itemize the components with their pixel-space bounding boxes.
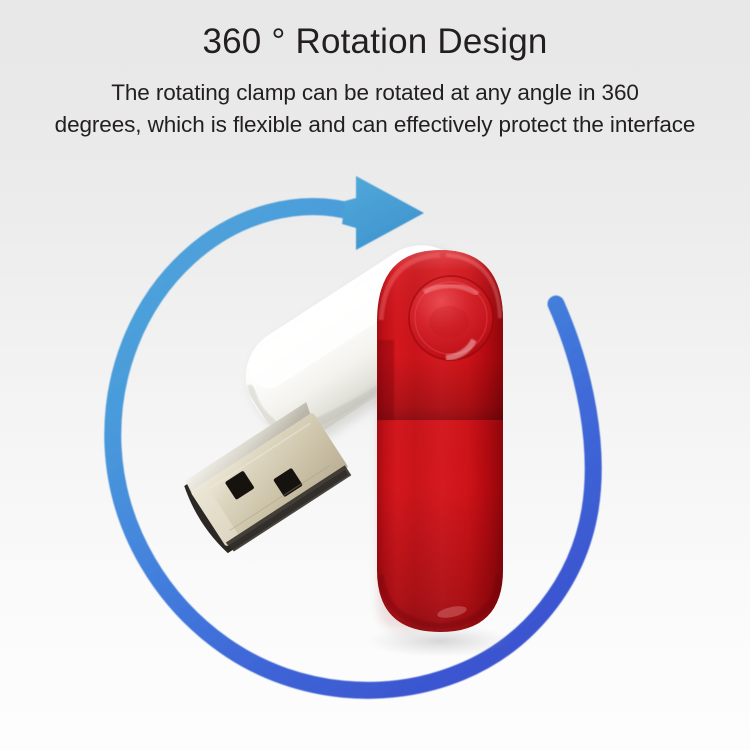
usb-red-cap-front	[377, 250, 503, 420]
page-title: 360 ° Rotation Design	[0, 0, 750, 62]
subtitle-line-2: degrees, which is flexible and can effec…	[0, 109, 750, 141]
product-feature-image: 360 ° Rotation Design The rotating clamp…	[0, 0, 750, 750]
text-block: 360 ° Rotation Design The rotating clamp…	[0, 0, 750, 141]
subtitle-line-1: The rotating clamp can be rotated at any…	[0, 77, 750, 109]
subtitle: The rotating clamp can be rotated at any…	[0, 62, 750, 141]
